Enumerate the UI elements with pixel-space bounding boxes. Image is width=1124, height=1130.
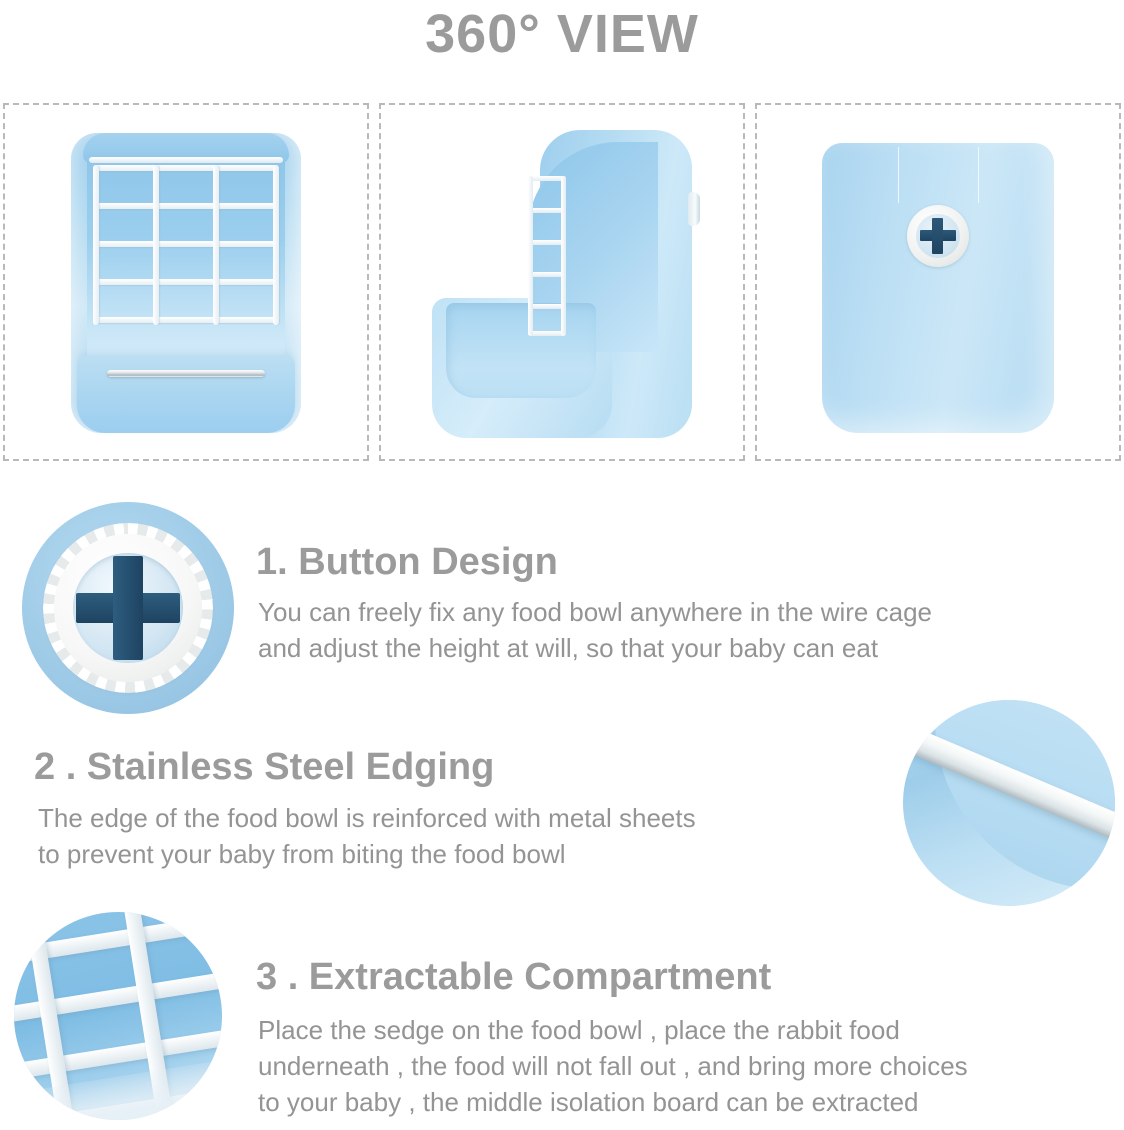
cross-vertical-bar <box>113 556 143 660</box>
grid-bar-v <box>273 165 279 325</box>
grid-bar-h <box>93 241 279 247</box>
stainless-steel-edging-strip <box>107 370 265 377</box>
steel-edging-closeup-icon <box>903 700 1115 906</box>
feature-2-heading: 2 . Stainless Steel Edging <box>34 745 494 789</box>
grid-bar-v <box>561 176 566 336</box>
product-front-view-image <box>71 133 301 433</box>
grid-bar-h <box>93 203 279 209</box>
feature-3-body: Place the sedge on the food bowl , place… <box>258 1012 1098 1120</box>
gallery-panel-side-view[interactable] <box>379 103 745 461</box>
mold-seam <box>978 147 979 203</box>
bowl-cavity <box>446 303 596 398</box>
page-title: 360° VIEW <box>0 2 1124 66</box>
grid-bar-h <box>93 279 279 285</box>
mounting-knob <box>688 192 700 226</box>
extractable-tray-front <box>77 355 295 433</box>
grid-bar-v <box>153 165 159 325</box>
cross-vertical-bar <box>932 218 943 254</box>
feature-1-heading: 1. Button Design <box>256 540 558 584</box>
grid-bar-v <box>528 176 533 336</box>
feature-3-heading: 3 . Extractable Compartment <box>256 955 771 999</box>
grid-bar-v <box>93 165 99 325</box>
button-cross-icon <box>22 502 234 714</box>
wire-grid-insert <box>93 165 279 325</box>
grid-bar-h <box>93 317 279 323</box>
product-gallery <box>3 103 1121 463</box>
feature-1-body: You can freely fix any food bowl anywher… <box>258 594 1078 666</box>
grid-bar-h <box>93 165 279 171</box>
grid-sedge-closeup-icon <box>14 912 222 1120</box>
grid-top-rail <box>89 157 283 163</box>
button-cross-icon <box>907 205 969 267</box>
feature-2-body: The edge of the food bowl is reinforced … <box>38 800 868 872</box>
bowl-back-shell <box>822 143 1054 433</box>
grid-bar-v <box>213 165 219 325</box>
product-back-view-image <box>822 143 1054 433</box>
mold-seam <box>898 147 899 203</box>
gallery-panel-back-view[interactable] <box>755 103 1121 461</box>
gallery-panel-front-view[interactable] <box>3 103 369 461</box>
wire-grid-side <box>528 176 566 336</box>
product-side-view-image <box>432 130 692 438</box>
